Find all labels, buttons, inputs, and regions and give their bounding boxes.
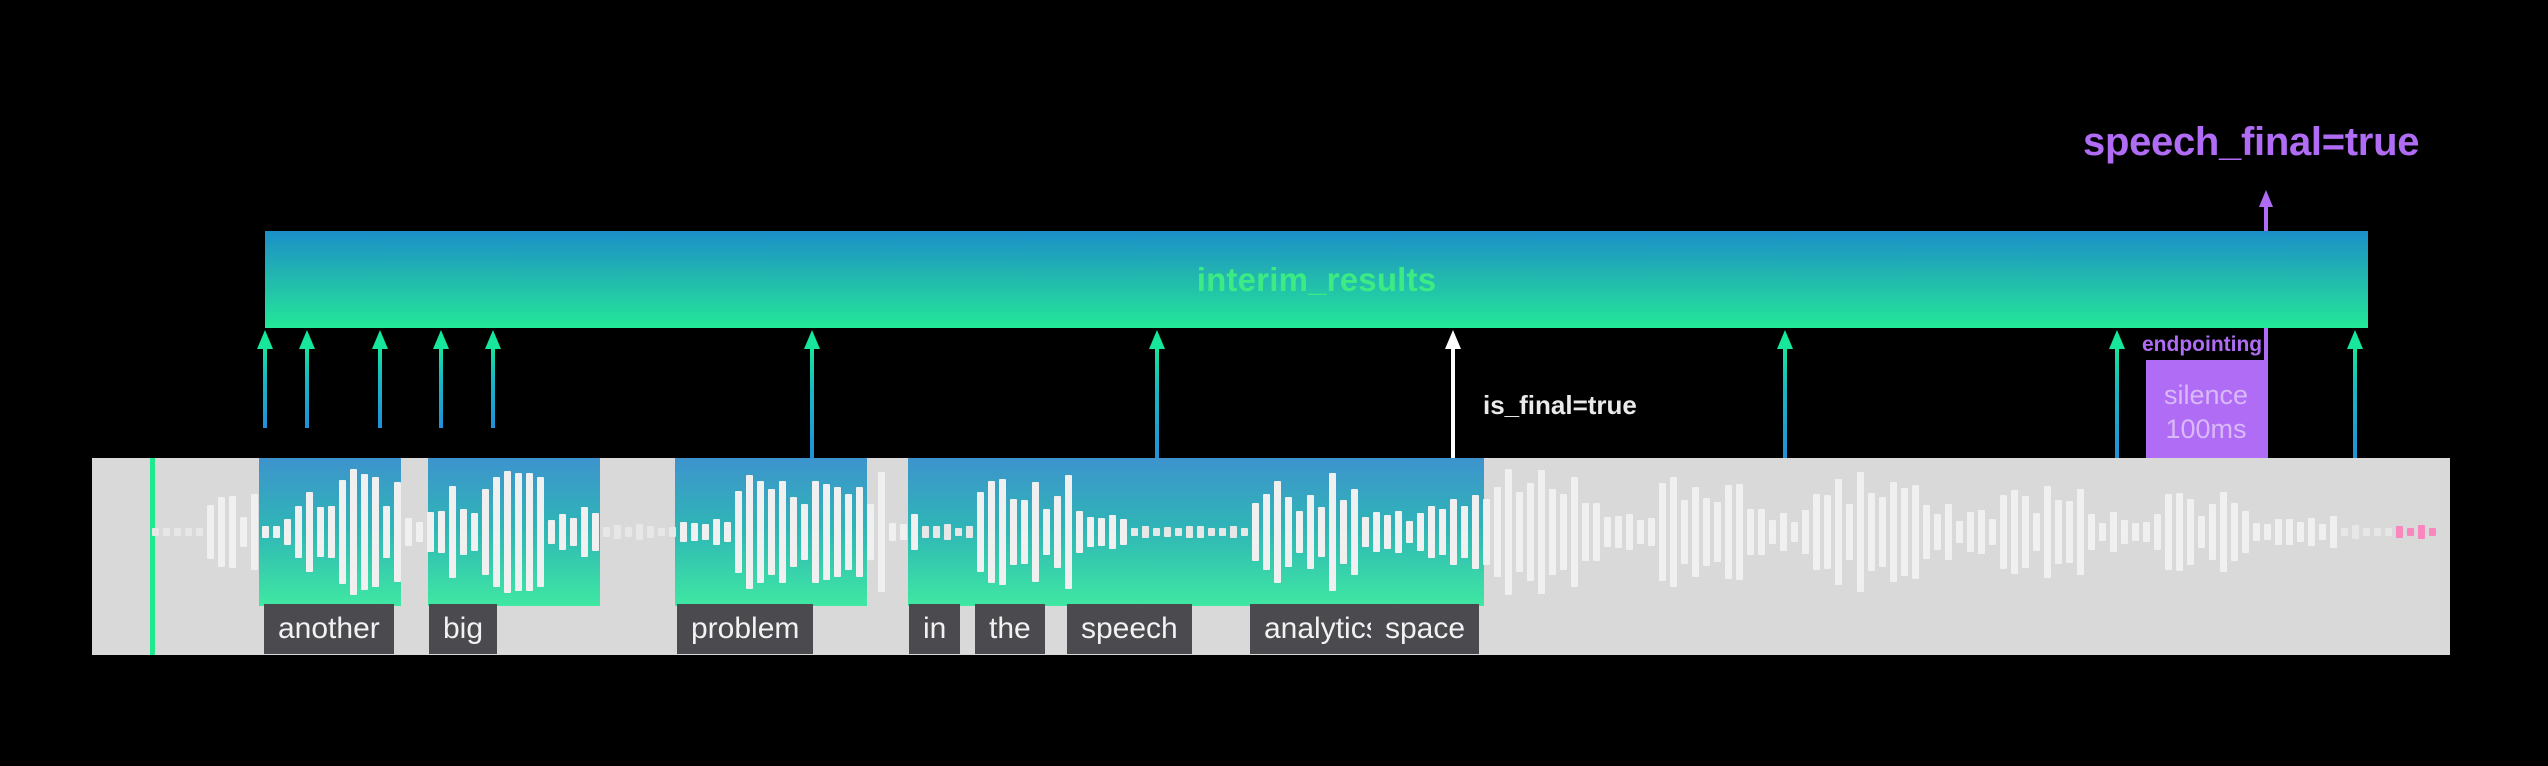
waveform-bar <box>537 477 544 588</box>
waveform-bar <box>471 513 478 552</box>
waveform-bar <box>1329 473 1336 591</box>
waveform-bar <box>1109 515 1116 548</box>
waveform-bar <box>2253 523 2260 540</box>
waveform-bar <box>1307 495 1314 569</box>
waveform-bar <box>867 504 874 560</box>
tick-arrow-7 <box>1445 330 1461 458</box>
waveform-bar <box>427 512 434 551</box>
waveform-bar <box>2077 489 2084 576</box>
waveform-bar <box>680 522 687 542</box>
waveform-bar <box>1131 528 1138 536</box>
waveform-bar <box>834 487 841 577</box>
waveform-bar <box>1252 503 1259 562</box>
waveform-bar <box>405 518 412 546</box>
waveform-bar <box>713 519 720 544</box>
waveform-bar <box>350 469 357 595</box>
waveform-bar <box>889 523 896 542</box>
waveform-bar <box>581 507 588 556</box>
waveform-bar <box>2121 520 2128 544</box>
waveform-bar <box>383 506 390 558</box>
waveform-bar <box>823 484 830 581</box>
waveform-bar <box>1263 494 1270 571</box>
silence-duration: 100ms <box>2165 413 2246 447</box>
word-chip-big[interactable]: big <box>429 604 497 654</box>
waveform-bar <box>1780 513 1787 552</box>
waveform-bar <box>515 473 522 590</box>
waveform-bar <box>1824 495 1831 569</box>
waveform-bar <box>1593 503 1600 561</box>
waveform-bar <box>2000 495 2007 568</box>
waveform-bar <box>1153 528 1160 536</box>
waveform-bar <box>317 507 324 556</box>
waveform-bar <box>1527 483 1534 580</box>
waveform-bar <box>1604 517 1611 546</box>
waveform-bar <box>1879 497 1886 567</box>
waveform-bar <box>2088 514 2095 549</box>
waveform-bar <box>2143 522 2150 543</box>
waveform-bar <box>1219 528 1226 536</box>
word-chip-speech[interactable]: speech <box>1067 604 1192 654</box>
waveform-bar <box>2209 504 2216 560</box>
waveform-bar <box>933 526 940 539</box>
waveform-bar <box>1439 509 1446 556</box>
waveform-bar <box>1681 500 1688 563</box>
word-chip-the[interactable]: the <box>975 604 1045 654</box>
waveform-bar <box>2308 518 2315 545</box>
waveform-bar <box>1186 526 1193 539</box>
waveform-bar <box>2066 501 2073 563</box>
waveform-bar <box>2132 523 2139 540</box>
waveform-bar <box>152 528 159 536</box>
waveform-bar <box>2341 528 2348 536</box>
waveform-bar <box>922 526 929 538</box>
waveform-bar <box>1989 519 1996 545</box>
waveform-bar <box>900 524 907 541</box>
waveform-bar <box>1945 504 1952 559</box>
waveform-bar <box>1670 477 1677 588</box>
waveform-bar <box>1857 472 1864 592</box>
waveform-bar <box>1065 475 1072 589</box>
waveform-bar <box>1296 511 1303 553</box>
waveform-bar <box>2110 512 2117 551</box>
waveform-bar <box>416 522 423 542</box>
waveform-bar <box>1626 514 1633 550</box>
waveform-bar <box>1758 509 1765 555</box>
waveform-bar <box>1516 492 1523 572</box>
waveform-bar <box>1505 469 1512 595</box>
tick-arrow-3 <box>433 330 449 428</box>
waveform-bar <box>1318 507 1325 557</box>
waveform-bar <box>1582 503 1589 562</box>
waveform-bar <box>1934 514 1941 550</box>
waveform-bar <box>1615 516 1622 548</box>
waveform-bar <box>1560 494 1567 570</box>
waveform-bar <box>658 528 665 536</box>
word-chip-space[interactable]: space <box>1371 604 1479 654</box>
waveform-bar <box>768 489 775 574</box>
waveform-bar <box>2099 523 2106 542</box>
waveform-bar <box>1703 498 1710 565</box>
waveform-bar <box>2396 526 2403 537</box>
waveform-bar <box>1076 511 1083 553</box>
waveform-bar <box>592 513 599 551</box>
interim-results-label: interim_results <box>1197 261 1437 299</box>
waveform-bar <box>735 491 742 572</box>
waveform-bar <box>757 481 764 583</box>
word-chip-another[interactable]: another <box>264 604 394 654</box>
waveform-bar <box>988 481 995 582</box>
waveform-bar <box>779 481 786 582</box>
waveform-bar <box>1802 510 1809 553</box>
waveform-bar <box>2176 493 2183 570</box>
waveform-bar <box>251 494 258 571</box>
waveform-bar <box>2429 528 2436 536</box>
waveform-bar <box>1725 485 1732 578</box>
waveform-bar <box>2275 519 2282 545</box>
waveform-bar <box>1098 518 1105 547</box>
waveform-bar <box>1846 504 1853 560</box>
waveform-bar <box>2319 524 2326 539</box>
waveform-bar <box>2352 525 2359 539</box>
waveform-bar <box>2033 513 2040 551</box>
tick-arrow-0 <box>257 330 273 428</box>
waveform-bar <box>1351 489 1358 575</box>
waveform-bar <box>2286 519 2293 544</box>
waveform-bar <box>2220 492 2227 572</box>
waveform-bar <box>163 528 170 536</box>
waveform-bar <box>1164 527 1171 537</box>
waveform-bar <box>1010 499 1017 566</box>
waveform-bar <box>218 497 225 567</box>
waveform-bar <box>1175 528 1182 536</box>
waveform-bar <box>504 471 511 592</box>
waveform-bar <box>2407 528 2414 537</box>
waveform-bar <box>1813 494 1820 569</box>
waveform-bar <box>878 472 885 591</box>
waveform-bar <box>1230 526 1237 538</box>
waveform-bar <box>1373 512 1380 551</box>
waveform-bar <box>1692 487 1699 576</box>
waveform-bar <box>273 526 280 538</box>
waveform-bar <box>2374 528 2381 536</box>
waveform-bar <box>2044 486 2051 577</box>
tick-arrow-5 <box>804 330 820 458</box>
word-chip-in[interactable]: in <box>909 604 960 654</box>
waveform-bar <box>2198 516 2205 549</box>
waveform-bar <box>647 526 654 538</box>
waveform-bar <box>1978 510 1985 553</box>
waveform-bar <box>1274 481 1281 583</box>
tick-arrow-8 <box>1777 330 1793 458</box>
speech-final-label: speech_final=true <box>2083 120 2419 165</box>
tick-arrow-1 <box>299 330 315 428</box>
waveform-bar <box>966 526 973 537</box>
waveform-bar <box>1967 512 1974 553</box>
waveform-bar <box>449 486 456 578</box>
waveform-bar <box>2418 525 2425 538</box>
waveform-bar <box>944 524 951 540</box>
waveform-bar <box>1923 505 1930 559</box>
stream-start-marker <box>150 458 155 655</box>
waveform-bar <box>2154 514 2161 550</box>
waveform-bar <box>1494 487 1501 577</box>
waveform-bar <box>1428 506 1435 558</box>
waveform-bar <box>2385 528 2392 536</box>
waveform-bar <box>2231 503 2238 561</box>
endpointing-label: endpointing <box>2142 333 2262 357</box>
waveform-bar <box>911 514 918 549</box>
waveform-bar <box>1637 520 1644 544</box>
waveform-bar <box>1120 519 1127 544</box>
waveform-bar <box>306 492 313 572</box>
waveform-bar <box>1417 513 1424 551</box>
waveform-bar <box>845 494 852 570</box>
waveform-bar <box>1912 485 1919 580</box>
diagram-canvas: speech_final=true interim_results is_fin… <box>0 0 2548 766</box>
waveform-bar <box>999 479 1006 584</box>
waveform-bar <box>1241 528 1248 536</box>
waveform-bar <box>724 522 731 543</box>
waveform-bar <box>746 475 753 589</box>
waveform-bar <box>2165 494 2172 571</box>
waveform-bar <box>1395 511 1402 552</box>
waveform-bar <box>2363 528 2370 536</box>
tick-arrow-6 <box>1149 330 1165 458</box>
waveform-bar <box>1087 517 1094 548</box>
waveform-bar <box>372 477 379 588</box>
waveform-bar <box>1538 470 1545 593</box>
waveform-bar <box>1197 526 1204 537</box>
is-final-label: is_final=true <box>1483 390 1637 421</box>
waveform-bar <box>1450 499 1457 565</box>
waveform-bar <box>1736 484 1743 581</box>
tick-arrow-9 <box>2109 330 2125 458</box>
waveform-bar <box>196 528 203 536</box>
waveform-bar <box>625 527 632 536</box>
waveform-bar <box>790 497 797 568</box>
waveform-bar <box>1142 526 1149 539</box>
waveform-bar <box>1384 515 1391 549</box>
waveform-bar <box>603 527 610 536</box>
waveform-bar <box>801 504 808 561</box>
waveform-bar <box>1208 528 1215 537</box>
waveform-bar <box>2264 524 2271 540</box>
waveform-bar <box>1747 509 1754 555</box>
waveform-bar <box>570 518 577 546</box>
waveform-bar <box>1571 477 1578 588</box>
waveform-bar <box>284 519 291 544</box>
waveform-bar <box>328 506 335 559</box>
waveform-bar <box>526 473 533 592</box>
waveform-bar <box>185 528 192 536</box>
waveform-bar <box>2330 516 2337 548</box>
waveform-bar <box>1901 488 1908 575</box>
waveform-bar <box>1340 500 1347 563</box>
tick-arrow-4 <box>485 330 501 428</box>
waveform-bar <box>2187 499 2194 565</box>
waveform-bar <box>174 528 181 536</box>
waveform-bar <box>295 506 302 558</box>
interim-results-bar: interim_results <box>265 231 2368 328</box>
silence-duration-box: silence 100ms <box>2146 360 2266 465</box>
waveform-bar <box>977 492 984 573</box>
waveform-bar <box>460 509 467 556</box>
waveform-bar <box>1868 493 1875 570</box>
waveform-bar <box>2055 500 2062 565</box>
waveform-bar <box>812 481 819 584</box>
waveform-bar <box>955 528 962 537</box>
waveform-bar <box>1362 517 1369 548</box>
waveform-bar <box>856 487 863 577</box>
waveform-bar <box>240 517 247 548</box>
waveform-bar <box>669 527 676 538</box>
waveform-bar <box>207 505 214 558</box>
waveform-bar <box>614 525 621 540</box>
tick-arrow-10 <box>2347 330 2363 458</box>
waveform-bar <box>1406 521 1413 543</box>
waveform-bar <box>691 523 698 540</box>
waveform-bar <box>1956 521 1963 543</box>
silence-word: silence <box>2164 379 2248 413</box>
waveform-bar <box>262 526 269 538</box>
waveform-bar <box>1483 499 1490 565</box>
tick-arrow-2 <box>372 330 388 428</box>
waveform-bar <box>361 474 368 591</box>
waveform-bar <box>2297 522 2304 541</box>
waveform-bar <box>636 524 643 539</box>
waveform-bar <box>1769 520 1776 545</box>
waveform-bar <box>702 524 709 539</box>
waveform-bar <box>1648 518 1655 546</box>
waveform-bar <box>1890 482 1897 581</box>
waveform-track[interactable]: anotherbigprobleminthespeechanalyticsspa… <box>92 458 2450 655</box>
waveform-bar <box>1043 509 1050 556</box>
waveform-bar <box>1714 502 1721 561</box>
waveform-bar <box>438 511 445 552</box>
waveform-bar <box>2242 511 2249 554</box>
waveform-bar <box>1472 495 1479 569</box>
waveform-bar <box>2011 490 2018 573</box>
waveform-bar <box>1054 496 1061 567</box>
waveform-bar <box>1021 500 1028 563</box>
waveform-bar <box>559 514 566 550</box>
waveform-bar <box>482 489 489 575</box>
waveform-bar <box>548 520 555 544</box>
waveform-bar <box>339 480 346 585</box>
waveform-bar <box>394 482 401 582</box>
waveform-bar <box>1549 489 1556 576</box>
waveform-bar <box>2022 496 2029 568</box>
waveform-bar <box>1285 497 1292 567</box>
waveform-bar <box>1835 479 1842 585</box>
waveform-bar <box>229 496 236 569</box>
waveform-bar <box>1032 482 1039 582</box>
waveform-bar <box>1461 506 1468 558</box>
waveform-bar <box>1659 483 1666 581</box>
waveform-bar <box>1791 522 1798 543</box>
word-chip-problem[interactable]: problem <box>677 604 813 654</box>
waveform-bar <box>493 477 500 587</box>
